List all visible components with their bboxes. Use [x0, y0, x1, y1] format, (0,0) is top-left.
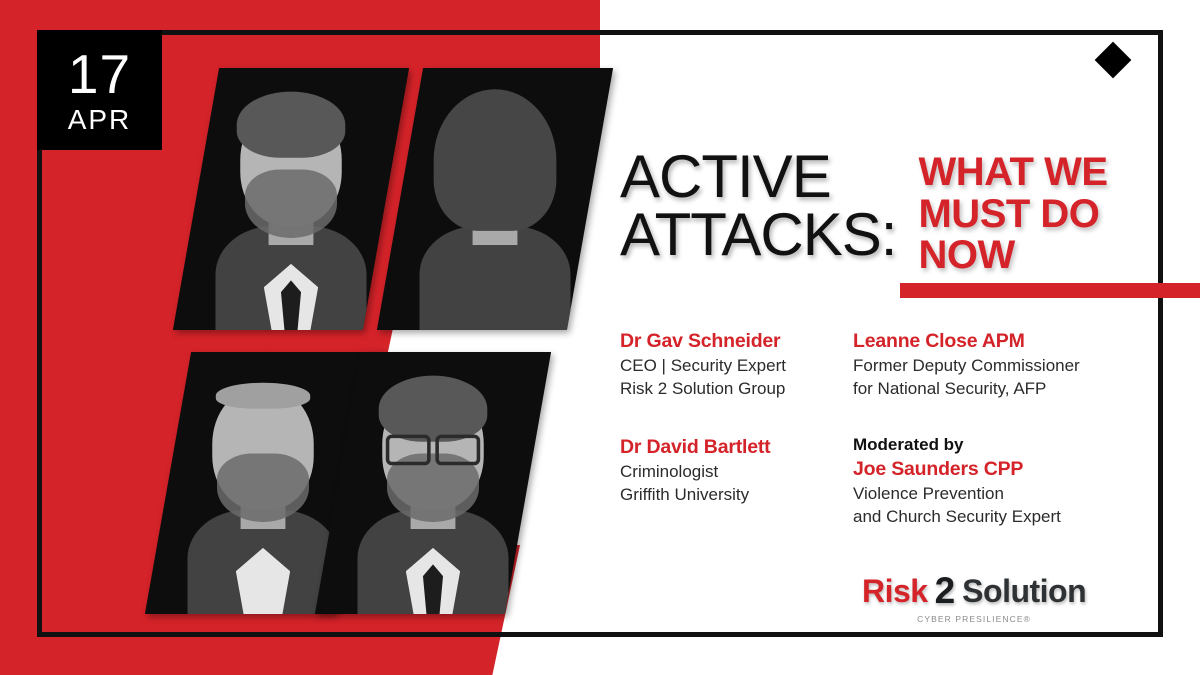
title-main-line-2: ATTACKS: — [620, 206, 896, 264]
speaker-role-line-1: Violence Prevention — [853, 482, 1120, 505]
speaker-name: Leanne Close APM — [853, 328, 1120, 354]
speaker-role-line-2: for National Security, AFP — [853, 377, 1120, 400]
speaker-name: Dr David Bartlett — [620, 434, 835, 460]
title-sub-line-3: NOW — [918, 235, 1107, 277]
event-date-badge: 17 APR — [37, 30, 162, 150]
title-sub-line-2: MUST DO — [918, 194, 1107, 236]
logo-word-risk: Risk — [862, 575, 928, 607]
logo-wordmark: Risk 2 Solution — [862, 572, 1086, 609]
title-underline-rule — [900, 283, 1200, 298]
page-title: ACTIVE ATTACKS: WHAT WE MUST DO NOW — [620, 148, 1108, 277]
speaker-item: Dr David Bartlett Criminologist Griffith… — [620, 434, 835, 529]
logo-word-solution: Solution — [962, 575, 1086, 607]
speaker-item: Dr Gav Schneider CEO | Security Expert R… — [620, 328, 835, 401]
title-sub-line-1: WHAT WE — [918, 152, 1107, 194]
title-main-line-1: ACTIVE — [620, 148, 896, 206]
speaker-item-moderator: Moderated by Joe Saunders CPP Violence P… — [853, 434, 1120, 529]
speaker-list: Dr Gav Schneider CEO | Security Expert R… — [620, 328, 1120, 529]
speaker-role-line-1: Criminologist — [620, 460, 835, 483]
risk-2-solution-logo: Risk 2 Solution CYBER PRESILIENCE® — [862, 572, 1086, 624]
logo-tagline: CYBER PRESILIENCE® — [862, 614, 1086, 624]
speaker-role-line-2: and Church Security Expert — [853, 505, 1120, 528]
speaker-role-line-1: Former Deputy Commissioner — [853, 354, 1120, 377]
event-date-month: APR — [68, 106, 132, 134]
speaker-role-line-2: Risk 2 Solution Group — [620, 377, 835, 400]
title-main-text: ACTIVE ATTACKS: — [620, 148, 896, 277]
speaker-role-line-2: Griffith University — [620, 483, 835, 506]
speaker-name: Dr Gav Schneider — [620, 328, 835, 354]
logo-numeral-two: 2 — [935, 572, 956, 609]
speaker-item: Leanne Close APM Former Deputy Commissio… — [853, 328, 1120, 401]
speaker-name: Joe Saunders CPP — [853, 456, 1120, 482]
moderator-label: Moderated by — [853, 434, 1120, 456]
speaker-role-line-1: CEO | Security Expert — [620, 354, 835, 377]
event-date-day: 17 — [68, 47, 131, 102]
event-poster: 17 APR ACTIVE ATTACKS: WHAT WE MUST DO N… — [0, 0, 1200, 675]
title-sub-text: WHAT WE MUST DO NOW — [918, 148, 1107, 277]
